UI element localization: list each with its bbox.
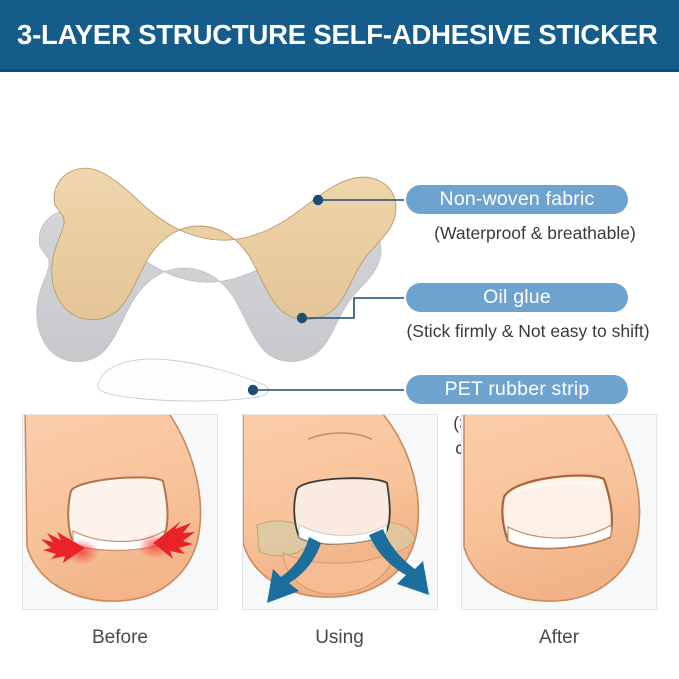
callout-pill-pet-rubber-strip: PET rubber strip bbox=[406, 375, 628, 404]
anchor-dot-non-woven bbox=[313, 195, 323, 205]
panel-caption-after: After bbox=[539, 627, 579, 649]
callout-non-woven-fabric: Non-woven fabric (Waterproof & breathabl… bbox=[404, 185, 666, 246]
callout-sub-non-woven-fabric: (Waterproof & breathable) bbox=[404, 221, 666, 246]
panel-after: After bbox=[461, 414, 657, 679]
leader-line-pet bbox=[248, 385, 404, 395]
panel-using: Using bbox=[242, 414, 438, 679]
illustration-toe-using bbox=[243, 415, 437, 609]
callout-pill-non-woven-fabric: Non-woven fabric bbox=[406, 185, 628, 214]
panel-before: Before bbox=[22, 414, 218, 679]
header-bar: 3-LAYER STRUCTURE SELF-ADHESIVE STICKER bbox=[0, 0, 679, 72]
illustration-toe-after bbox=[462, 415, 656, 609]
panel-frame-after bbox=[461, 414, 657, 610]
before-using-after-panels: Before bbox=[0, 414, 679, 679]
anchor-dot-pet bbox=[248, 385, 258, 395]
panel-frame-using bbox=[242, 414, 438, 610]
panel-caption-using: Using bbox=[315, 627, 364, 649]
leader-line-non-woven bbox=[313, 195, 404, 205]
callout-sub-oil-glue: (Stick firmly & Not easy to shift) bbox=[390, 319, 666, 344]
callout-oil-glue: Oil glue (Stick firmly & Not easy to shi… bbox=[404, 283, 666, 344]
page-title: 3-LAYER STRUCTURE SELF-ADHESIVE STICKER bbox=[0, 19, 658, 51]
layer-diagram: Non-woven fabric (Waterproof & breathabl… bbox=[0, 72, 679, 402]
panel-caption-before: Before bbox=[92, 627, 148, 649]
anchor-dot-oil-glue bbox=[297, 313, 307, 323]
callout-pill-oil-glue: Oil glue bbox=[406, 283, 628, 312]
illustration-toe-before bbox=[23, 415, 217, 609]
leader-line-oil-glue bbox=[297, 298, 404, 323]
panel-frame-before bbox=[22, 414, 218, 610]
